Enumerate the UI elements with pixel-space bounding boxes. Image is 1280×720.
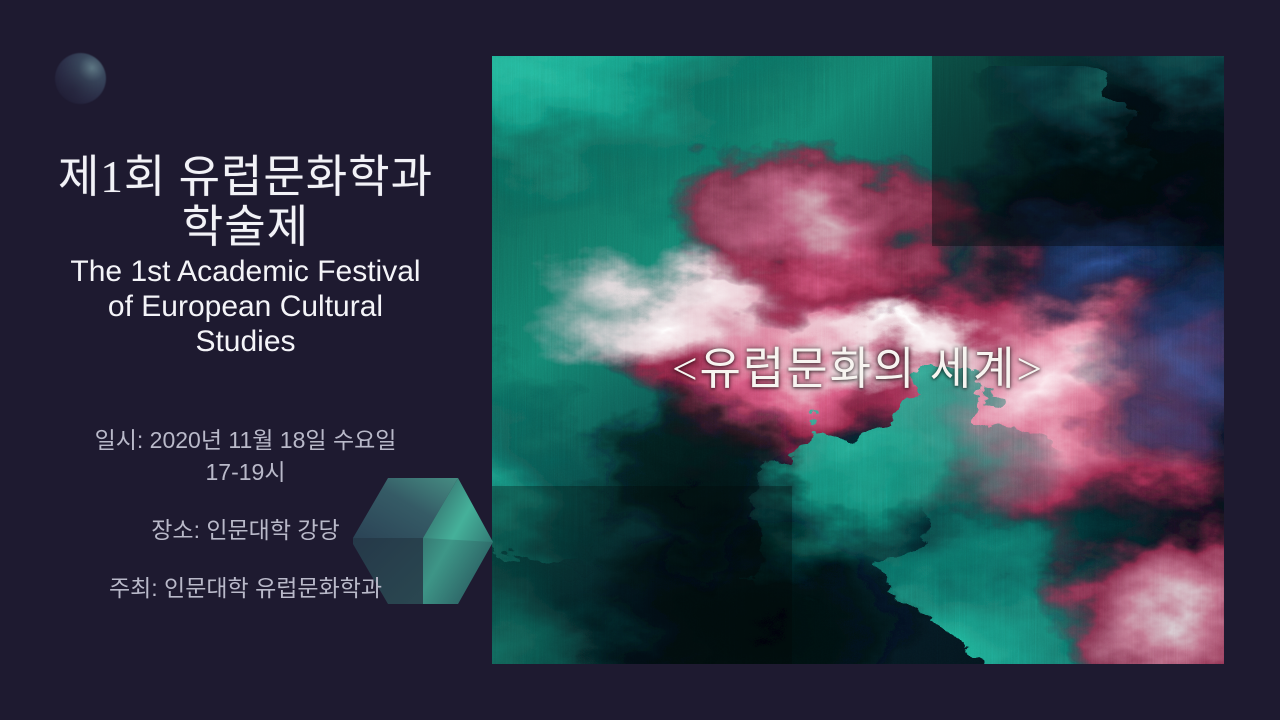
page-title-english: The 1st Academic Festival of European Cu…: [18, 254, 473, 359]
left-text-column: 제1회 유럽문화학과 학술제 The 1st Academic Festival…: [0, 0, 492, 720]
event-date-line-2: 17-19시: [18, 456, 473, 488]
title-english-line-2: of European Cultural: [18, 289, 473, 324]
title-english-line-1: The 1st Academic Festival: [18, 254, 473, 289]
page-title-korean: 제1회 유럽문화학과 학술제: [18, 152, 473, 252]
title-korean-line-1: 제1회 유럽문화학과: [18, 152, 473, 202]
title-block: 제1회 유럽문화학과 학술제 The 1st Academic Festival…: [18, 152, 473, 359]
event-date: 일시: 2020년 11월 18일 수요일 17-19시: [18, 424, 473, 488]
event-date-line-1: 일시: 2020년 11월 18일 수요일: [18, 424, 473, 456]
event-place: 장소: 인문대학 강당: [18, 514, 473, 546]
event-details-block: 일시: 2020년 11월 18일 수요일 17-19시 장소: 인문대학 강당…: [18, 424, 473, 604]
artwork-image: <유럽문화의 세계>: [492, 56, 1224, 664]
presentation-slide: 제1회 유럽문화학과 학술제 The 1st Academic Festival…: [0, 0, 1280, 720]
title-english-line-3: Studies: [18, 324, 473, 359]
title-korean-line-2: 학술제: [18, 202, 473, 252]
event-host: 주최: 인문대학 유럽문화학과: [18, 572, 473, 604]
